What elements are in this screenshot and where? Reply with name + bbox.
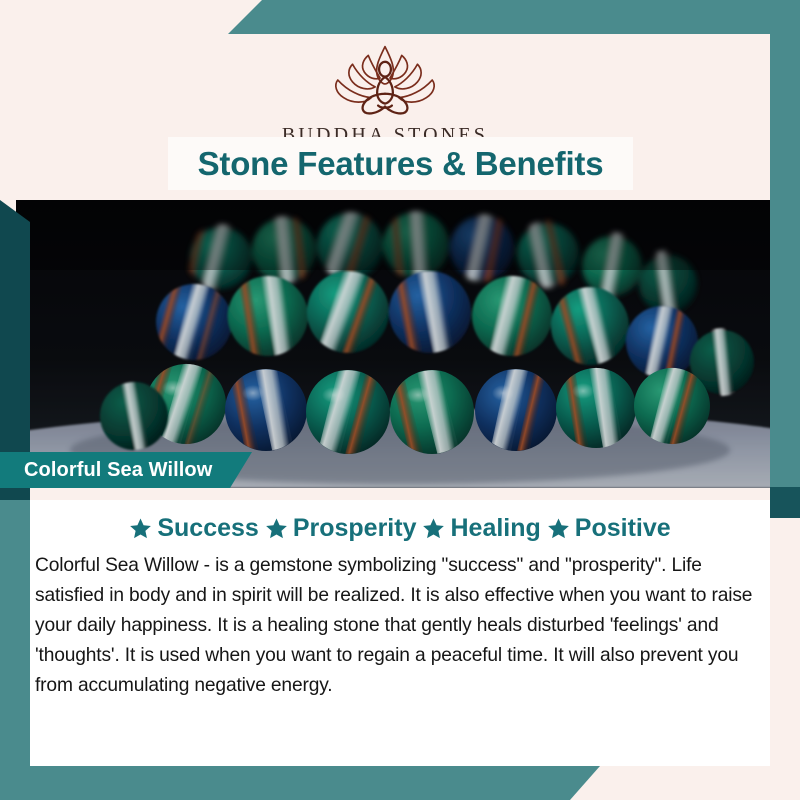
benefit-item-success: Success bbox=[129, 514, 258, 543]
product-caption-banner: Colorful Sea Willow bbox=[0, 452, 252, 488]
page-title-band: Stone Features & Benefits bbox=[168, 137, 633, 190]
star-icon bbox=[547, 517, 570, 540]
bead-bracelet-image bbox=[16, 200, 784, 488]
frame-right-teal-band bbox=[770, 0, 800, 518]
frame-top-teal-band bbox=[228, 0, 800, 34]
benefit-item-positive: Positive bbox=[547, 514, 671, 543]
benefit-label: Healing bbox=[450, 514, 540, 543]
benefit-label: Success bbox=[157, 514, 258, 543]
star-icon bbox=[265, 517, 288, 540]
benefit-label: Positive bbox=[575, 514, 671, 543]
frame-bottom-teal-band bbox=[0, 766, 600, 800]
frame-right-teal-band-lower bbox=[770, 487, 800, 518]
star-icon bbox=[129, 517, 152, 540]
benefit-item-healing: Healing bbox=[422, 514, 540, 543]
benefit-item-prosperity: Prosperity bbox=[265, 514, 417, 543]
brand-logo: BUDDHA STONES bbox=[0, 38, 770, 147]
star-icon bbox=[422, 517, 445, 540]
product-photo bbox=[16, 200, 784, 488]
lotus-meditation-icon bbox=[326, 38, 444, 123]
product-caption-label: Colorful Sea Willow bbox=[0, 459, 212, 482]
frame-left-teal-band-lower bbox=[0, 500, 30, 768]
benefit-label: Prosperity bbox=[293, 514, 417, 543]
description-text: Colorful Sea Willow - is a gemstone symb… bbox=[30, 543, 770, 701]
content-panel: Success Prosperity Healing Positive Colo… bbox=[30, 500, 770, 766]
infographic-page: BUDDHA STONES Stone Features & Benefits bbox=[0, 0, 800, 800]
benefits-row: Success Prosperity Healing Positive bbox=[30, 500, 770, 543]
page-title: Stone Features & Benefits bbox=[198, 145, 604, 183]
